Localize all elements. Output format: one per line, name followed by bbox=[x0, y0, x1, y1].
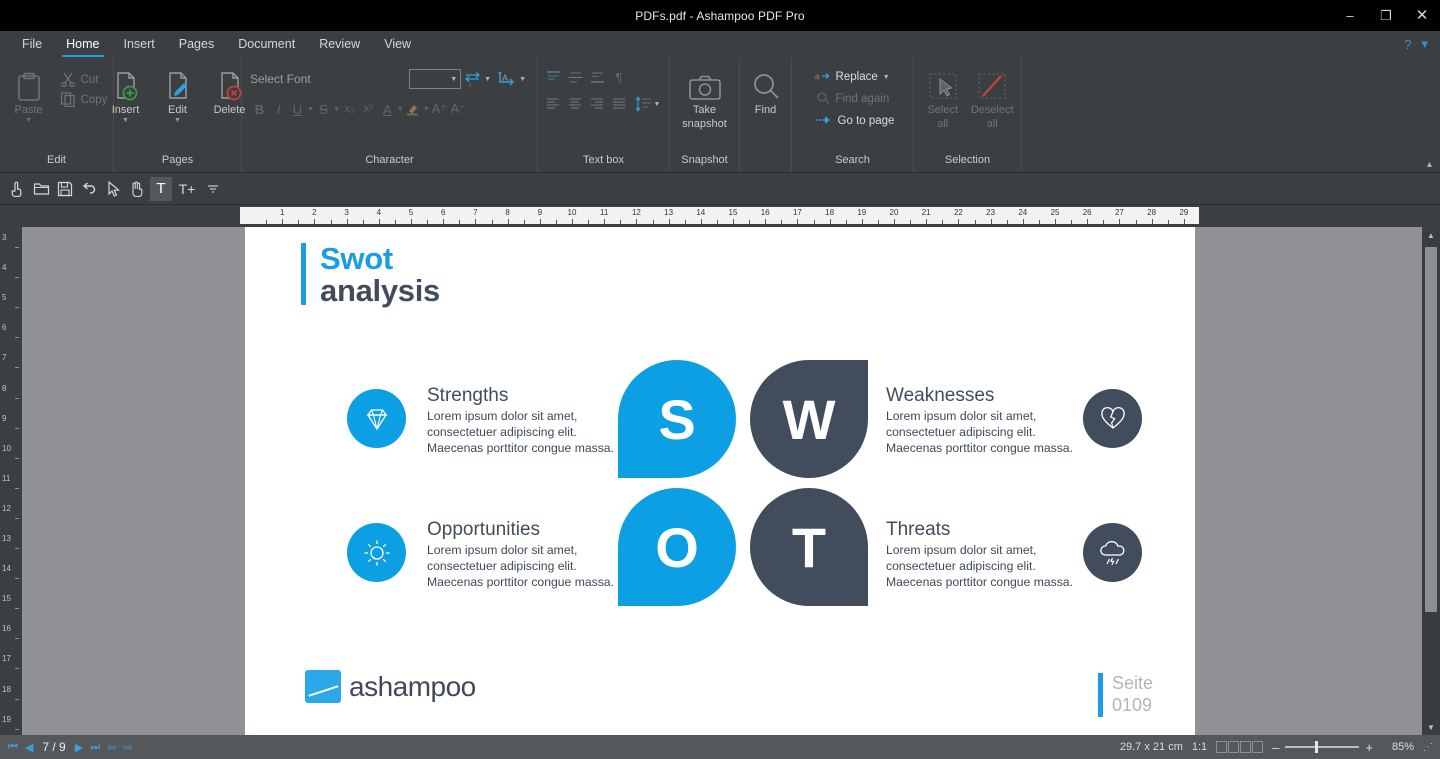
document-canvas[interactable]: Swot analysis S W O bbox=[22, 227, 1422, 735]
ruler-label-vertical: 16 bbox=[2, 624, 11, 633]
save-file-icon[interactable] bbox=[54, 177, 76, 201]
ruler-tick-major bbox=[1119, 219, 1120, 224]
ribbon-group-search: a Replace ▼ Find again bbox=[792, 57, 914, 172]
ruler-tick-minor bbox=[395, 220, 396, 224]
broken-heart-icon bbox=[1083, 389, 1142, 448]
menu-item-review[interactable]: Review bbox=[307, 31, 372, 57]
navigate-forward-button[interactable]: ⇨ bbox=[123, 741, 132, 754]
ruler-label-vertical: 19 bbox=[2, 715, 11, 724]
font-color-button[interactable]: A bbox=[378, 98, 397, 120]
grid-view-icon[interactable] bbox=[1252, 741, 1263, 753]
deselect-all-label-2: all bbox=[987, 118, 998, 130]
chevron-down-icon[interactable]: ▼ bbox=[25, 118, 32, 124]
align-left-icon bbox=[545, 97, 561, 111]
chevron-down-icon[interactable]: ▼ bbox=[519, 76, 526, 83]
two-page-view-icon[interactable] bbox=[1240, 741, 1251, 753]
collapse-ribbon-button[interactable]: ▴ bbox=[1427, 159, 1432, 170]
ruler-label-vertical: 4 bbox=[2, 263, 6, 272]
ruler-label-vertical: 17 bbox=[2, 654, 11, 663]
window-controls: – ❐ ✕ bbox=[1332, 0, 1440, 31]
take-snapshot-label-1: Take bbox=[693, 104, 716, 116]
body-weaknesses: Lorem ipsum dolor sit amet, consectetuer… bbox=[886, 409, 1076, 457]
swot-blob-w: W bbox=[750, 360, 868, 478]
status-bar: ⏮ ◀ 7 / 9 ▶ ⏭ ⇦ ⇨ 29.7 x 21 cm 1:1 – + bbox=[0, 735, 1440, 759]
camera-icon bbox=[688, 68, 722, 102]
swot-text-opportunities: Opportunities Lorem ipsum dolor sit amet… bbox=[427, 519, 617, 591]
ribbon-group-label-textbox: Text box bbox=[538, 154, 669, 172]
ruler-label: 24 bbox=[1018, 208, 1027, 217]
ruler-label: 11 bbox=[600, 208, 608, 217]
menu-item-file[interactable]: File bbox=[10, 31, 54, 57]
edit-page-button[interactable]: Edit ▼ bbox=[152, 64, 204, 124]
ruler-tick-minor bbox=[910, 220, 911, 224]
ruler-tick-minor bbox=[717, 220, 718, 224]
paragraph-marks-button[interactable]: ¶ bbox=[610, 66, 629, 88]
title-bar: PDFs.pdf - Ashampoo PDF Pro – ❐ ✕ bbox=[0, 0, 1440, 31]
find-button[interactable]: Find bbox=[746, 64, 785, 116]
align-top-icon bbox=[545, 70, 562, 85]
select-all-label-1: Select bbox=[927, 104, 958, 116]
find-label: Find bbox=[755, 104, 776, 116]
scroll-down-arrow[interactable]: ▼ bbox=[1422, 719, 1440, 735]
line-spacing-button[interactable]: ▼ bbox=[632, 96, 664, 112]
ruler-tick-minor bbox=[878, 220, 879, 224]
ruler-label: 17 bbox=[793, 208, 802, 217]
swot-letter-w: W bbox=[783, 387, 836, 452]
ruler-label: 4 bbox=[377, 208, 381, 217]
ruler-label: 26 bbox=[1083, 208, 1092, 217]
zoom-in-button[interactable]: + bbox=[1365, 740, 1373, 755]
ruler-label: 1 bbox=[280, 208, 284, 217]
pan-hand-icon[interactable] bbox=[126, 177, 148, 201]
application-window: PDFs.pdf - Ashampoo PDF Pro – ❐ ✕ File H… bbox=[0, 0, 1440, 759]
ruler-label: 12 bbox=[632, 208, 641, 217]
ruler-label: 27 bbox=[1115, 208, 1124, 217]
ruler-tick-minor bbox=[1168, 220, 1169, 224]
svg-text:A: A bbox=[468, 83, 472, 88]
ruler-tick-minor bbox=[1071, 220, 1072, 224]
add-text-tool-glyph: T+ bbox=[179, 181, 196, 197]
ruler-tick-minor bbox=[363, 220, 364, 224]
ruler-label: 2 bbox=[312, 208, 316, 217]
underline-button[interactable]: U bbox=[288, 98, 307, 120]
font-size-input[interactable]: ▼ bbox=[409, 69, 461, 89]
swot-letter-t: T bbox=[792, 515, 826, 580]
ruler-tick-vertical bbox=[15, 699, 19, 700]
view-mode-buttons[interactable] bbox=[1216, 741, 1263, 753]
ruler-tick-minor bbox=[1136, 220, 1137, 224]
chevron-down-icon[interactable]: ▼ bbox=[307, 106, 314, 113]
swot-grid: S W O T bbox=[245, 227, 1195, 735]
help-area: ? ▾ bbox=[1404, 31, 1434, 57]
swot-blob-o: O bbox=[618, 488, 736, 606]
ruler-tick-vertical bbox=[15, 668, 19, 669]
ribbon-group-label-selection: Selection bbox=[914, 154, 1021, 172]
minimize-button[interactable]: – bbox=[1332, 0, 1368, 31]
ruler-label: 3 bbox=[344, 208, 348, 217]
ruler-tick-vertical bbox=[15, 578, 19, 579]
ruler-label-vertical: 14 bbox=[2, 564, 11, 573]
ruler-tick-major bbox=[1184, 219, 1185, 224]
find-again-button[interactable]: Find again bbox=[812, 89, 893, 109]
ribbon-group-character: Select Font ▼ A ▼ bbox=[242, 57, 538, 172]
ribbon-group-label-edit: Edit bbox=[0, 154, 113, 172]
ruler-label: 19 bbox=[857, 208, 866, 217]
ruler-tick-minor bbox=[814, 220, 815, 224]
single-page-view-icon[interactable] bbox=[1216, 741, 1227, 753]
quick-access-toolbar: T T+ bbox=[0, 173, 1440, 205]
select-all-label-2: all bbox=[937, 118, 948, 130]
zoom-knob[interactable] bbox=[1315, 741, 1318, 753]
horizontal-ruler[interactable]: 1234567891011121314151617181920212223242… bbox=[240, 207, 1199, 224]
chevron-down-icon[interactable]: ▼ bbox=[174, 118, 181, 124]
swot-letter-o: O bbox=[655, 515, 699, 580]
fit-label[interactable]: 1:1 bbox=[1192, 741, 1207, 753]
go-to-page-button[interactable]: Go to page bbox=[812, 111, 898, 131]
ruler-tick-vertical bbox=[15, 367, 19, 368]
ruler-tick-minor bbox=[492, 220, 493, 224]
character-spacing-icon: A bbox=[464, 70, 482, 88]
ruler-tick-minor bbox=[846, 220, 847, 224]
ruler-tick-vertical bbox=[15, 307, 19, 308]
ruler-label-vertical: 9 bbox=[2, 414, 6, 423]
ruler-tick-minor bbox=[556, 220, 557, 224]
ruler-tick-vertical bbox=[15, 398, 19, 399]
insert-page-label: Insert bbox=[112, 104, 140, 116]
footer-accent-bar bbox=[1098, 673, 1103, 717]
align-justify-button[interactable] bbox=[610, 93, 629, 115]
ruler-tick-major bbox=[862, 219, 863, 224]
align-left-button[interactable] bbox=[544, 93, 563, 115]
ribbon-group-snapshot: Take snapshot Snapshot bbox=[670, 57, 740, 172]
ruler-tick-major bbox=[411, 219, 412, 224]
ruler-label-vertical: 10 bbox=[2, 444, 11, 453]
ruler-tick-minor bbox=[1039, 220, 1040, 224]
ruler-label: 16 bbox=[761, 208, 770, 217]
find-again-label: Find again bbox=[836, 93, 890, 105]
maximize-button[interactable]: ❐ bbox=[1368, 0, 1404, 31]
ruler-tick-major bbox=[926, 219, 927, 224]
ruler-label: 10 bbox=[568, 208, 577, 217]
ruler-label: 29 bbox=[1179, 208, 1188, 217]
pdf-page[interactable]: Swot analysis S W O bbox=[245, 227, 1195, 735]
ruler-tick-minor bbox=[266, 220, 267, 224]
ruler-label: 6 bbox=[441, 208, 445, 217]
ruler-label: 21 bbox=[922, 208, 931, 217]
ruler-tick-major bbox=[540, 219, 541, 224]
ruler-tick-major bbox=[1055, 219, 1056, 224]
ruler-tick-minor bbox=[427, 220, 428, 224]
chevron-down-icon[interactable]: ▾ bbox=[1421, 36, 1428, 52]
superscript-button[interactable]: x² bbox=[359, 98, 378, 120]
ruler-tick-major bbox=[1023, 219, 1024, 224]
align-bottom-button[interactable] bbox=[588, 66, 607, 88]
svg-text:A: A bbox=[502, 73, 508, 83]
diamond-icon bbox=[347, 389, 406, 448]
ruler-tick-major bbox=[894, 219, 895, 224]
ruler-label: 28 bbox=[1147, 208, 1156, 217]
ruler-label-vertical: 8 bbox=[2, 384, 6, 393]
ruler-tick-minor bbox=[942, 220, 943, 224]
ribbon-group-find: Find bbox=[740, 57, 792, 172]
ashampoo-logo-text: ashampoo bbox=[349, 671, 476, 703]
window-title: PDFs.pdf - Ashampoo PDF Pro bbox=[635, 9, 804, 23]
ruler-label: 22 bbox=[954, 208, 963, 217]
ruler-label: 20 bbox=[890, 208, 899, 217]
insert-page-icon bbox=[111, 68, 141, 102]
ruler-label: 8 bbox=[505, 208, 509, 217]
help-icon[interactable]: ? bbox=[1404, 37, 1411, 52]
chevron-down-icon[interactable]: ▼ bbox=[883, 74, 890, 81]
scroll-up-arrow[interactable]: ▲ bbox=[1422, 227, 1440, 243]
italic-button[interactable]: I bbox=[269, 98, 288, 120]
ruler-tick-major bbox=[991, 219, 992, 224]
heading-opportunities: Opportunities bbox=[427, 519, 617, 541]
chevron-down-icon[interactable]: ▼ bbox=[122, 118, 129, 124]
select-cursor-icon[interactable] bbox=[102, 177, 124, 201]
ruler-tick-vertical bbox=[15, 337, 19, 338]
ruler-label: 5 bbox=[409, 208, 413, 217]
delete-page-icon bbox=[215, 68, 245, 102]
ruler-tick-minor bbox=[685, 220, 686, 224]
character-spacing-button[interactable]: A ▼ bbox=[461, 70, 494, 88]
ruler-tick-minor bbox=[975, 220, 976, 224]
ribbon-group-label-pages: Pages bbox=[114, 154, 241, 172]
ruler-tick-major bbox=[379, 219, 380, 224]
go-to-page-label: Go to page bbox=[838, 115, 895, 127]
ruler-tick-major bbox=[282, 219, 283, 224]
insert-page-button[interactable]: Insert ▼ bbox=[100, 64, 152, 124]
cut-icon bbox=[60, 71, 76, 90]
ribbon-group-selection: Select all Deselect all Selection bbox=[914, 57, 1022, 172]
last-page-button[interactable]: ⏭ bbox=[90, 741, 100, 754]
text-tool-glyph: T bbox=[156, 180, 165, 197]
ruler-label-vertical: 13 bbox=[2, 534, 11, 543]
find-again-icon bbox=[815, 92, 831, 107]
zoom-percent: 85% bbox=[1382, 741, 1414, 753]
touch-mode-icon[interactable] bbox=[6, 177, 28, 201]
ruler-label: 23 bbox=[986, 208, 995, 217]
align-bottom-icon bbox=[589, 70, 606, 85]
ruler-tick-vertical bbox=[15, 277, 19, 278]
paste-label: Paste bbox=[15, 104, 43, 116]
swot-blob-s: S bbox=[618, 360, 736, 478]
ruler-label-vertical: 12 bbox=[2, 504, 11, 513]
text-rotate-icon: A bbox=[497, 69, 517, 89]
ruler-tick-minor bbox=[781, 220, 782, 224]
take-snapshot-label-2: snapshot bbox=[682, 118, 727, 130]
ribbon-group-pages: Insert ▼ Edit ▼ bbox=[114, 57, 242, 172]
deselect-all-icon bbox=[976, 68, 1008, 102]
ruler-tick-vertical bbox=[15, 458, 19, 459]
ruler-label-vertical: 11 bbox=[2, 474, 10, 483]
previous-page-button[interactable]: ◀ bbox=[25, 741, 33, 754]
select-all-button[interactable]: Select all bbox=[920, 64, 966, 130]
footer-page-number: 0109 bbox=[1112, 695, 1153, 717]
replace-icon: a bbox=[815, 70, 831, 85]
shrink-font-button[interactable]: A⁻ bbox=[449, 98, 468, 120]
ruler-tick-major bbox=[508, 219, 509, 224]
ruler-tick-minor bbox=[1007, 220, 1008, 224]
strikethrough-button[interactable]: S bbox=[314, 98, 333, 120]
chevron-down-icon[interactable]: ▼ bbox=[654, 101, 661, 108]
ruler-tick-major bbox=[669, 219, 670, 224]
menu-item-home[interactable]: Home bbox=[54, 31, 111, 57]
ruler-label-vertical: 6 bbox=[2, 323, 6, 332]
zoom-slider[interactable]: – + bbox=[1272, 740, 1373, 755]
ruler-tick-major bbox=[475, 219, 476, 224]
search-icon bbox=[751, 68, 781, 102]
ruler-tick-vertical bbox=[15, 488, 19, 489]
ribbon-group-label-character: Character bbox=[242, 154, 537, 172]
ashampoo-logo: ashampoo bbox=[305, 670, 476, 703]
edit-page-icon bbox=[163, 68, 193, 102]
swot-slide: Swot analysis S W O bbox=[245, 227, 1195, 735]
ruler-label: 7 bbox=[473, 208, 477, 217]
ribbon-toolbar: Paste ▼ Cut bbox=[0, 57, 1440, 173]
bold-button[interactable]: B bbox=[250, 98, 269, 120]
chevron-down-icon[interactable]: ▼ bbox=[450, 76, 457, 83]
page-navigation: ⏮ ◀ 7 / 9 ▶ ⏭ ⇦ ⇨ bbox=[0, 740, 133, 754]
first-page-button[interactable]: ⏮ bbox=[8, 741, 18, 754]
ruler-tick-major bbox=[830, 219, 831, 224]
paste-button[interactable]: Paste ▼ bbox=[3, 64, 55, 124]
menu-item-view[interactable]: View bbox=[372, 31, 423, 57]
ruler-tick-minor bbox=[331, 220, 332, 224]
ruler-tick-major bbox=[443, 219, 444, 224]
add-text-tool-icon[interactable]: T+ bbox=[174, 177, 200, 201]
menu-item-document[interactable]: Document bbox=[226, 31, 307, 57]
chevron-down-icon[interactable]: ▼ bbox=[397, 106, 404, 113]
ruler-tick-vertical bbox=[15, 548, 19, 549]
ribbon-group-label-find bbox=[740, 154, 791, 172]
chevron-down-icon[interactable]: ▼ bbox=[333, 106, 340, 113]
body-threats: Lorem ipsum dolor sit amet, consectetuer… bbox=[886, 543, 1076, 591]
main-area: 345678910111213141516171819 Swot analysi… bbox=[0, 227, 1440, 735]
heading-strengths: Strengths bbox=[427, 385, 617, 407]
ruler-label: 14 bbox=[696, 208, 705, 217]
paste-icon bbox=[16, 68, 42, 102]
copy-icon bbox=[60, 91, 76, 110]
zoom-track[interactable] bbox=[1285, 746, 1359, 748]
ruler-tick-minor bbox=[298, 220, 299, 224]
align-middle-icon bbox=[567, 70, 584, 85]
select-font-label: Select Font bbox=[250, 72, 311, 86]
ruler-label: 13 bbox=[664, 208, 673, 217]
ruler-label-vertical: 3 bbox=[2, 233, 6, 242]
ruler-label: 15 bbox=[729, 208, 738, 217]
footer-page-label: Seite bbox=[1112, 673, 1153, 695]
ruler-tick-major bbox=[572, 219, 573, 224]
ruler-tick-major bbox=[347, 219, 348, 224]
chevron-down-icon[interactable]: ▼ bbox=[423, 106, 430, 113]
ruler-tick-minor bbox=[524, 220, 525, 224]
chevron-down-icon[interactable]: ▼ bbox=[484, 76, 491, 83]
ruler-tick-vertical bbox=[15, 608, 19, 609]
edit-page-label: Edit bbox=[168, 104, 187, 116]
menu-bar: File Home Insert Pages Document Review V… bbox=[0, 31, 1440, 57]
page-dimensions: 29.7 x 21 cm bbox=[1120, 741, 1183, 753]
align-right-button[interactable] bbox=[588, 93, 607, 115]
ruler-tick-vertical bbox=[15, 247, 19, 248]
ruler-tick-minor bbox=[653, 220, 654, 224]
undo-icon[interactable] bbox=[78, 177, 100, 201]
close-button[interactable]: ✕ bbox=[1404, 0, 1440, 31]
ruler-tick-minor bbox=[749, 220, 750, 224]
page-footer: Seite 0109 bbox=[1098, 673, 1153, 717]
text-tool-icon[interactable]: T bbox=[150, 177, 172, 201]
swot-letter-s: S bbox=[658, 387, 695, 452]
ruler-label-vertical: 18 bbox=[2, 685, 11, 694]
sun-icon bbox=[347, 523, 406, 582]
horizontal-ruler-area: 1234567891011121314151617181920212223242… bbox=[0, 205, 1440, 227]
text-rotate-button[interactable]: A ▼ bbox=[494, 69, 529, 89]
ruler-tick-minor bbox=[588, 220, 589, 224]
replace-button[interactable]: a Replace ▼ bbox=[812, 67, 893, 87]
ruler-tick-minor bbox=[459, 220, 460, 224]
navigate-back-button[interactable]: ⇦ bbox=[107, 741, 116, 754]
ruler-label: 25 bbox=[1051, 208, 1060, 217]
page-indicator: 7 / 9 bbox=[40, 740, 67, 754]
continuous-view-icon[interactable] bbox=[1228, 741, 1239, 753]
ruler-tick-minor bbox=[1103, 220, 1104, 224]
ruler-tick-major bbox=[604, 219, 605, 224]
ruler-tick-major bbox=[701, 219, 702, 224]
more-tools-icon[interactable] bbox=[202, 177, 224, 201]
ruler-tick-major bbox=[958, 219, 959, 224]
vertical-ruler[interactable]: 345678910111213141516171819 bbox=[0, 227, 22, 735]
deselect-all-button[interactable]: Deselect all bbox=[970, 64, 1016, 130]
ruler-tick-vertical bbox=[15, 428, 19, 429]
zoom-out-button[interactable]: – bbox=[1272, 740, 1279, 755]
ruler-tick-minor bbox=[620, 220, 621, 224]
go-to-page-icon bbox=[815, 114, 833, 129]
highlight-icon bbox=[405, 101, 421, 117]
subscript-button[interactable]: x₂ bbox=[340, 98, 359, 120]
svg-text:a: a bbox=[815, 72, 820, 81]
ruler-label: 9 bbox=[538, 208, 542, 217]
next-page-button[interactable]: ▶ bbox=[75, 741, 83, 754]
grow-font-button[interactable]: A⁺ bbox=[430, 98, 449, 120]
body-strengths: Lorem ipsum dolor sit amet, consectetuer… bbox=[427, 409, 617, 457]
ribbon-group-textbox: ¶ bbox=[538, 57, 670, 172]
vertical-scrollbar[interactable]: ▲ ▼ bbox=[1422, 227, 1440, 735]
align-justify-icon bbox=[611, 97, 627, 111]
align-middle-button[interactable] bbox=[566, 66, 585, 88]
ruler-tick-major bbox=[636, 219, 637, 224]
menu-item-pages[interactable]: Pages bbox=[167, 31, 226, 57]
ashampoo-logo-mark bbox=[305, 670, 341, 703]
storm-cloud-icon bbox=[1083, 523, 1142, 582]
ribbon-group-label-search: Search bbox=[792, 154, 913, 172]
highlight-button[interactable] bbox=[404, 98, 423, 120]
scrollbar-thumb[interactable] bbox=[1425, 247, 1437, 612]
open-file-icon[interactable] bbox=[30, 177, 52, 201]
menu-item-insert[interactable]: Insert bbox=[112, 31, 167, 57]
ruler-tick-vertical bbox=[15, 638, 19, 639]
status-bar-right: 29.7 x 21 cm 1:1 – + 85% ⋰ bbox=[1120, 735, 1440, 759]
align-center-button[interactable] bbox=[566, 93, 585, 115]
ruler-label: 18 bbox=[825, 208, 834, 217]
ruler-label-vertical: 5 bbox=[2, 293, 6, 302]
align-right-icon bbox=[589, 97, 605, 111]
align-top-button[interactable] bbox=[544, 66, 563, 88]
swot-text-weaknesses: Weaknesses Lorem ipsum dolor sit amet, c… bbox=[886, 385, 1076, 457]
ruler-tick-major bbox=[797, 219, 798, 224]
take-snapshot-button[interactable]: Take snapshot bbox=[676, 64, 733, 130]
swot-text-threats: Threats Lorem ipsum dolor sit amet, cons… bbox=[886, 519, 1076, 591]
resize-grip[interactable]: ⋰ bbox=[1423, 742, 1432, 753]
